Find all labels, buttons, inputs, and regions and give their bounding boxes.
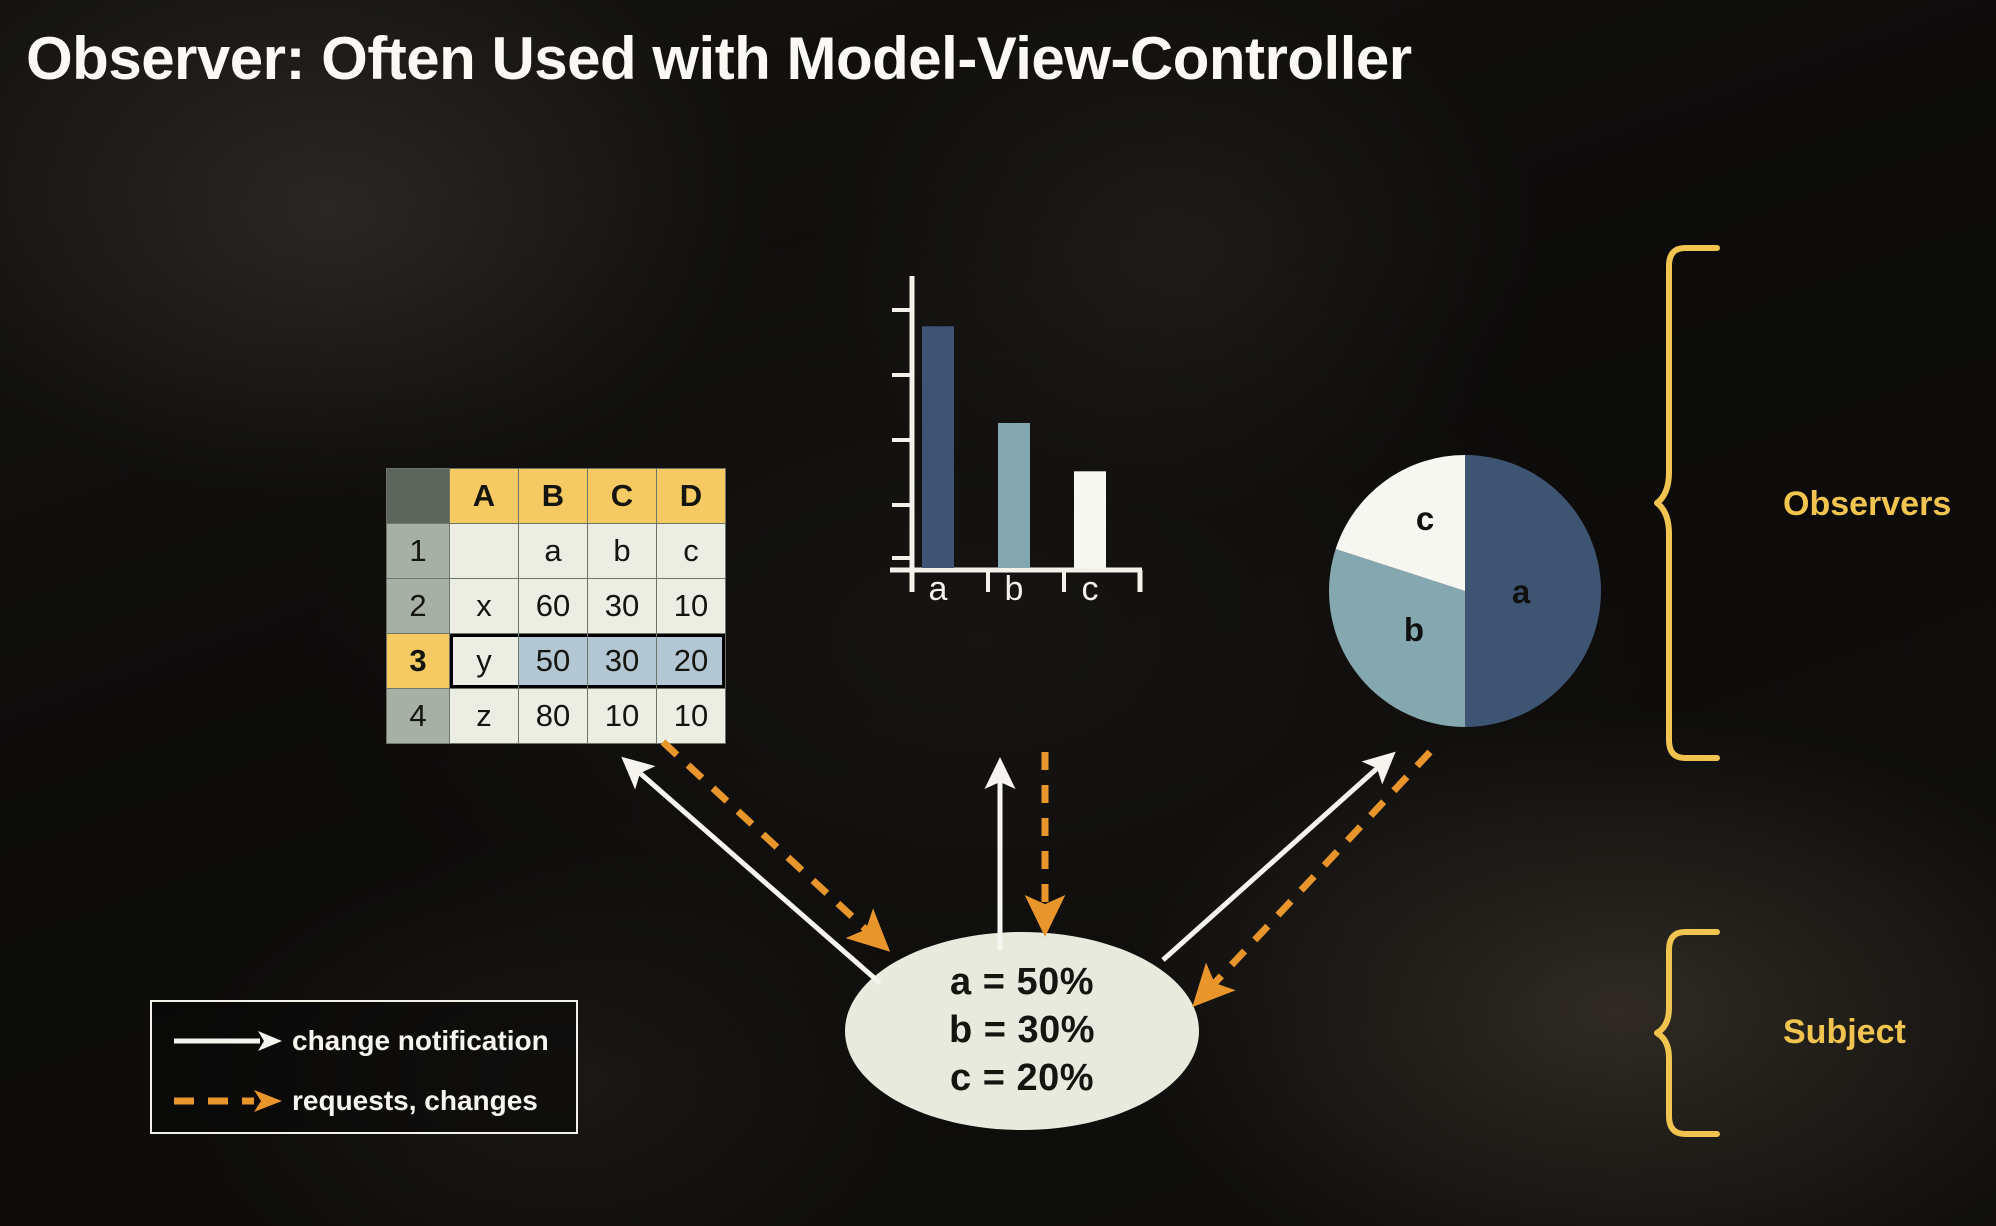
arrow-request-piechart [1197, 752, 1430, 1002]
arrow-request-table [663, 742, 885, 947]
legend-item-change-notification: change notification [152, 1018, 576, 1064]
legend-item-requests-changes: requests, changes [152, 1078, 576, 1124]
slide-canvas: Observer: Often Used with Model-View-Con… [0, 0, 1996, 1226]
legend-label-requests-changes: requests, changes [292, 1085, 538, 1117]
solid-arrow-icon [174, 1028, 284, 1054]
observers-label: Observers [1783, 485, 1951, 524]
arrow-notify-table [625, 760, 880, 983]
legend-box: change notification requests, changes [150, 1000, 578, 1134]
subject-brace [1655, 928, 1745, 1138]
observers-brace [1655, 244, 1745, 762]
legend-label-change-notification: change notification [292, 1025, 549, 1057]
arrow-notify-piechart [1163, 755, 1392, 960]
subject-label: Subject [1783, 1013, 1906, 1052]
dashed-arrow-icon [174, 1088, 284, 1114]
